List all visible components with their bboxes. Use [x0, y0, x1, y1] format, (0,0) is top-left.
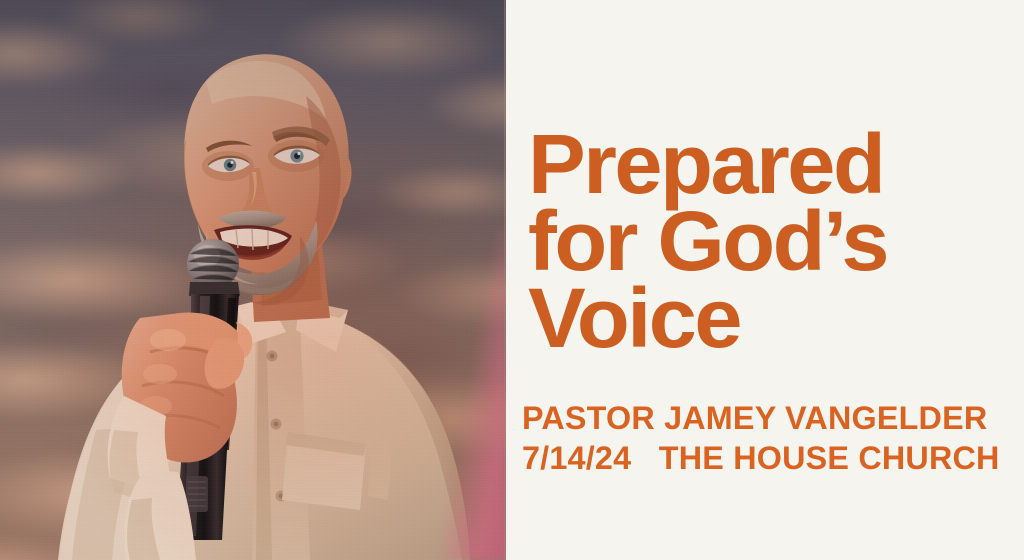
title-line-1: Prepared: [528, 126, 1022, 203]
warm-color-grade-overlay: [0, 0, 506, 560]
subtitle-speaker: PASTOR JAMEY VANGELDER: [522, 398, 1017, 438]
title-line-2: for God’s: [528, 203, 1022, 280]
pastor-preaching-photo: [0, 0, 506, 560]
sermon-subtitle: PASTOR JAMEY VANGELDER 7/14/24 THE HOUSE…: [522, 398, 1012, 478]
title-line-3: Voice: [528, 280, 1022, 357]
sermon-title-card: Prepared for God’s Voice PASTOR JAMEY VA…: [0, 0, 1024, 560]
text-panel: Prepared for God’s Voice PASTOR JAMEY VA…: [506, 0, 1024, 560]
sermon-title: Prepared for God’s Voice: [528, 126, 1008, 357]
subtitle-date-venue: 7/14/24 THE HOUSE CHURCH: [522, 438, 1017, 478]
